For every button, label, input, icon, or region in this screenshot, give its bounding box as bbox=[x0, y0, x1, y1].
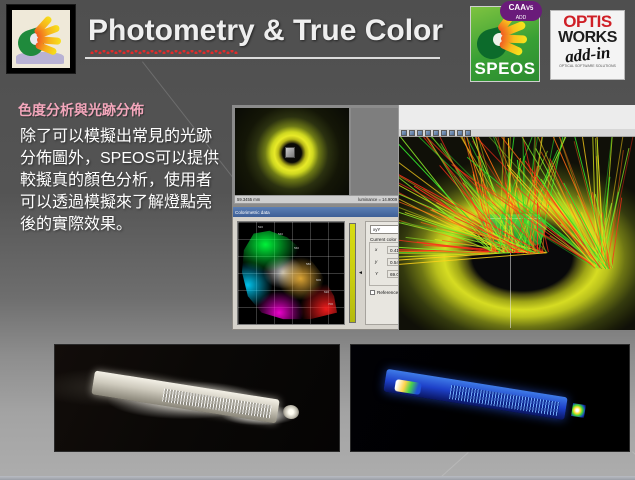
speos-app-icon bbox=[6, 4, 76, 74]
section-heading: 色度分析與光跡分佈 bbox=[18, 100, 144, 120]
viewport-toolbar[interactable] bbox=[399, 129, 635, 137]
optis-works-logo: OPTIS WORKS add-in OPTICAL SOFTWARE SOLU… bbox=[550, 10, 625, 80]
zoom-in-icon[interactable] bbox=[401, 130, 407, 136]
wavelength-label: 700 bbox=[328, 302, 333, 306]
fit-icon[interactable] bbox=[433, 130, 439, 136]
measure-icon[interactable] bbox=[457, 130, 463, 136]
section-body-text: 除了可以模擬出常見的光跡分佈圖外，SPEOS可以提供較擬真的顏色分析，使用者可以… bbox=[20, 126, 220, 236]
select-icon[interactable] bbox=[449, 130, 455, 136]
false-color-luminance-map bbox=[350, 344, 630, 452]
optis-logo-line3: add-in bbox=[564, 44, 611, 66]
spellcheck-underline bbox=[90, 50, 238, 54]
caa-badge-tag: ADD bbox=[500, 14, 542, 23]
caa-badge-sub: V5 bbox=[526, 6, 533, 12]
color-key-x: x bbox=[375, 247, 377, 252]
software-screenshot: 59.3455 mm luminance = 14.9009 cd/m2 Fil… bbox=[232, 105, 635, 330]
wavelength-label: 560 bbox=[294, 246, 299, 250]
caa-badge-main: CAA bbox=[509, 3, 526, 12]
color-space-value: xyY bbox=[373, 227, 380, 232]
render-icon[interactable] bbox=[441, 130, 447, 136]
true-color-render bbox=[54, 344, 340, 452]
pan-icon[interactable] bbox=[417, 130, 423, 136]
lightbar-endcap bbox=[282, 404, 300, 420]
checkbox-icon[interactable] bbox=[370, 290, 375, 295]
dialog-title: Colorimetric data bbox=[235, 210, 270, 215]
lightbar-hotspot-endcap bbox=[571, 403, 586, 418]
luminance-scale-bar bbox=[349, 223, 356, 323]
slide-bottom-rule bbox=[0, 476, 635, 480]
cie-chromaticity-diagram[interactable]: 520 540 560 580 600 620 700 bbox=[237, 221, 345, 325]
light-icon[interactable] bbox=[465, 130, 471, 136]
status-position: 59.3455 mm bbox=[235, 197, 297, 202]
wavelength-label: 540 bbox=[278, 232, 283, 236]
ray-trace-window bbox=[398, 105, 635, 330]
slide-canvas: Photometry & True Color CAAV5 ADD SPEOS … bbox=[0, 0, 635, 480]
page-title: Photometry & True Color bbox=[88, 14, 443, 48]
wavelength-label: 580 bbox=[306, 262, 311, 266]
luminance-farfield-image bbox=[235, 108, 349, 198]
caa-v5-badge: CAAV5 ADD bbox=[500, 1, 542, 21]
color-key-Y: Y bbox=[375, 271, 378, 276]
lightbar-body bbox=[91, 371, 280, 424]
zoom-out-icon[interactable] bbox=[409, 130, 415, 136]
speos-logo-text: SPEOS bbox=[471, 59, 539, 79]
optis-logo-line1: OPTIS bbox=[563, 14, 612, 30]
rotate-icon[interactable] bbox=[425, 130, 431, 136]
ray-trace-canvas[interactable] bbox=[399, 137, 635, 330]
wavelength-label: 520 bbox=[258, 225, 263, 229]
lightbar-luminance-body bbox=[384, 369, 569, 421]
wavelength-label: 600 bbox=[316, 278, 321, 282]
wavelength-label: 620 bbox=[324, 290, 329, 294]
slide-header: Photometry & True Color CAAV5 ADD SPEOS … bbox=[0, 0, 635, 92]
scale-marker-icon: ◄ bbox=[358, 270, 363, 276]
title-underline bbox=[85, 57, 440, 59]
color-key-y: y bbox=[375, 259, 377, 264]
